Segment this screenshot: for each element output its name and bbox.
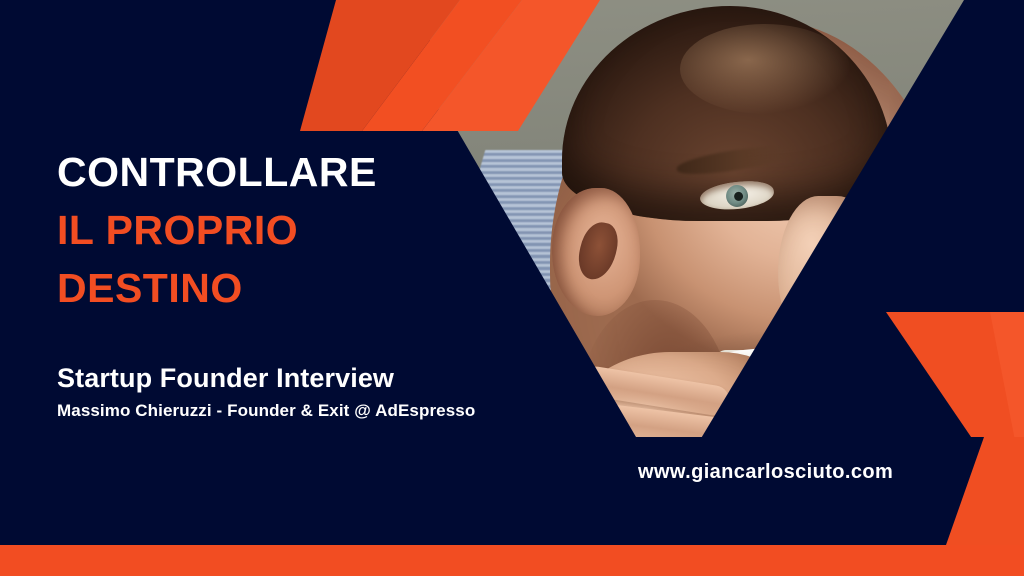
orange-parallelogram-top — [300, 0, 600, 132]
hair-highlight — [680, 24, 850, 114]
orange-bottom-bar — [0, 545, 1024, 576]
orange-parallelogram-right — [880, 312, 1024, 456]
headline-line-3: DESTINO — [57, 268, 377, 309]
navy-bottom-band — [0, 437, 1024, 545]
headline-block: CONTROLLARE IL PROPRIO DESTINO — [57, 152, 377, 309]
headline-line-2: IL PROPRIO — [57, 210, 377, 251]
headline-line-1: CONTROLLARE — [57, 152, 377, 193]
orange-parallelogram-right-tail — [880, 437, 1024, 547]
website-url[interactable]: www.giancarlosciuto.com — [638, 461, 893, 484]
iris-shape — [725, 184, 749, 208]
pupil-shape — [734, 191, 744, 201]
guest-credit: Massimo Chieruzzi - Founder & Exit @ AdE… — [57, 401, 475, 421]
orange-right-tail-face — [880, 437, 1024, 547]
thumbnail-canvas: CONTROLLARE IL PROPRIO DESTINO Startup F… — [0, 0, 1024, 576]
series-title: Startup Founder Interview — [57, 363, 475, 394]
subtitle-block: Startup Founder Interview Massimo Chieru… — [57, 363, 475, 421]
